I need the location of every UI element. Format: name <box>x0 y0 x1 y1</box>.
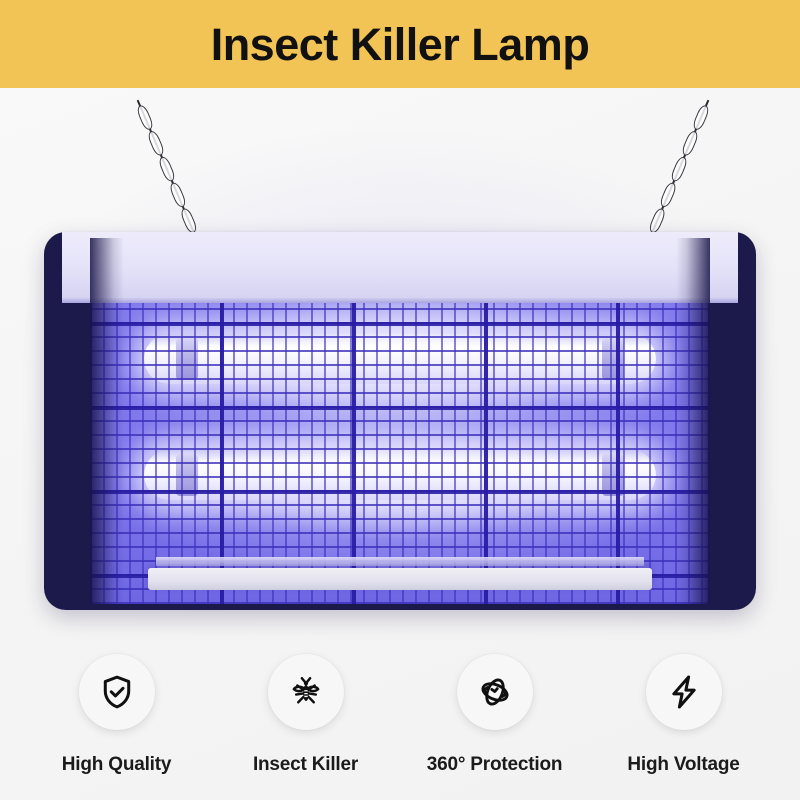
page-title: Insect Killer Lamp <box>211 22 590 67</box>
top-reflector-panel <box>62 232 738 298</box>
feature-label: Insect Killer <box>253 754 358 776</box>
feature-item-360-protection[interactable]: 360° Protection <box>405 640 585 776</box>
insect-killer-lamp <box>44 232 756 610</box>
collection-tray <box>148 568 652 590</box>
feature-item-insect-killer[interactable]: Insect Killer <box>216 640 396 776</box>
feature-icon-wrapper <box>268 654 344 730</box>
feature-label: High Quality <box>62 754 172 776</box>
header-banner: Insect Killer Lamp <box>0 0 800 88</box>
cage-pillar-right <box>676 238 710 604</box>
cage-pillar-left <box>90 238 124 604</box>
rotation-360-icon <box>476 673 514 711</box>
shield-check-icon <box>98 673 136 711</box>
feature-label: 360° Protection <box>427 754 563 776</box>
feature-label: High Voltage <box>627 754 739 776</box>
feature-item-high-quality[interactable]: High Quality <box>27 640 207 776</box>
reflector-edge <box>62 298 738 303</box>
feature-icon-wrapper <box>79 654 155 730</box>
feature-icon-wrapper <box>646 654 722 730</box>
hanging-chain-right <box>648 100 709 241</box>
collection-shelf <box>156 557 644 566</box>
feature-item-high-voltage[interactable]: High Voltage <box>594 640 774 776</box>
mosquito-icon <box>287 673 325 711</box>
feature-icon-wrapper <box>457 654 533 730</box>
feature-list: High Quality <box>0 640 800 800</box>
hanging-chain-left <box>137 100 198 241</box>
product-infographic: Insect Killer Lamp <box>0 0 800 800</box>
lightning-bolt-icon <box>665 673 703 711</box>
product-stage <box>0 88 800 640</box>
